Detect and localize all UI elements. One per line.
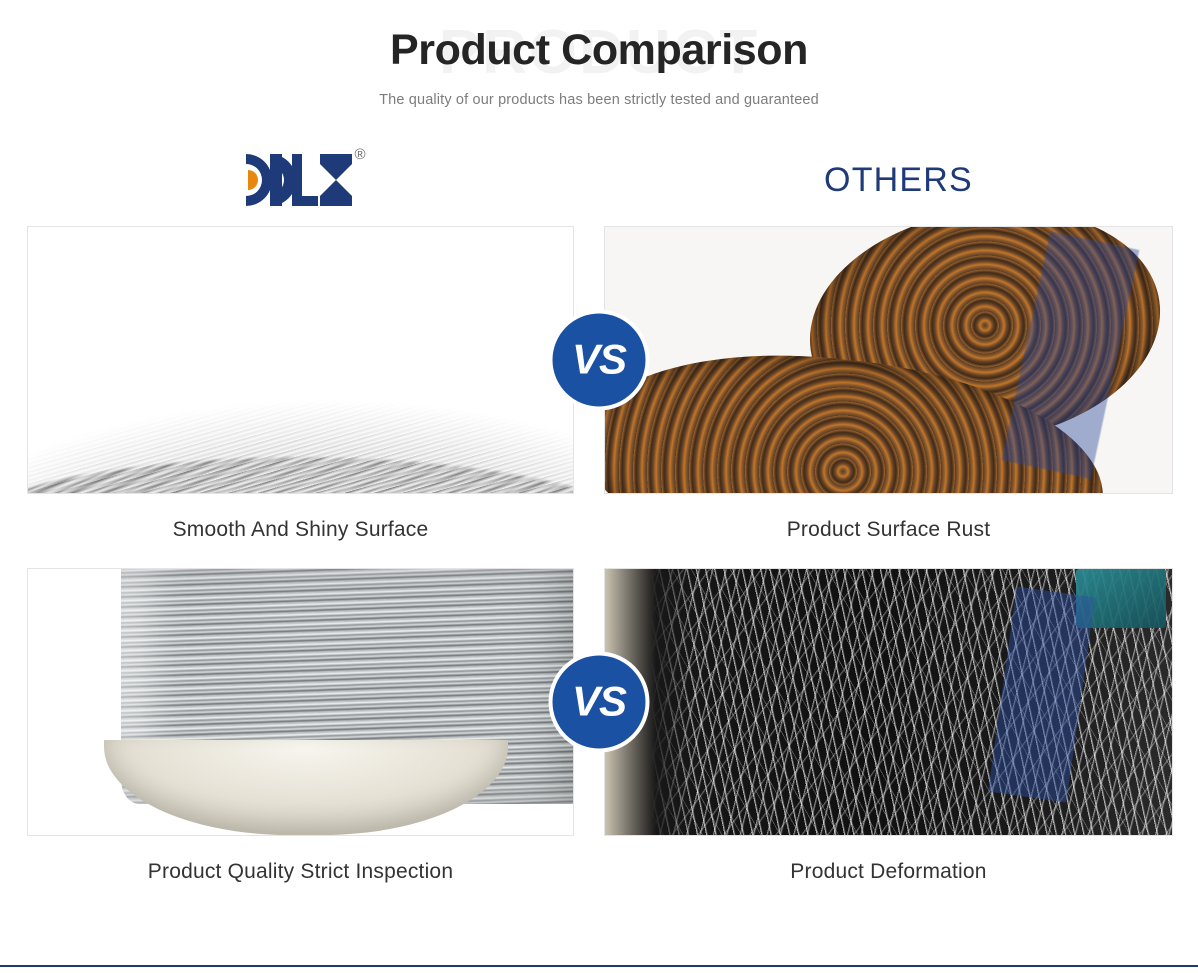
comparison-cell-others: Product Surface Rust <box>599 226 1198 568</box>
photo-caption: Smooth And Shiny Surface <box>173 518 429 542</box>
photo-art <box>605 569 1172 835</box>
photo-art <box>605 227 1172 493</box>
photo-caption: Product Surface Rust <box>787 518 991 542</box>
product-photo-others <box>604 226 1173 494</box>
brand-cell-others: OTHERS <box>599 134 1198 226</box>
comparison-cell-ours: Product Quality Strict Inspection <box>0 568 599 910</box>
photo-caption: Product Deformation <box>790 860 986 884</box>
product-photo-others <box>604 568 1173 836</box>
dlx-logo-icon <box>240 144 358 216</box>
brand-cell-ours: ® <box>0 134 599 226</box>
photo-caption: Product Quality Strict Inspection <box>148 860 453 884</box>
registered-trademark-icon: ® <box>354 146 365 163</box>
photo-art <box>28 227 573 493</box>
silver-wire-spool-image <box>28 569 573 835</box>
silver-wire-coil-image <box>28 227 573 493</box>
bottom-divider <box>0 965 1198 967</box>
page-subtitle: The quality of our products has been str… <box>0 92 1198 108</box>
vs-badge-row2: VS <box>549 652 650 753</box>
page-title: Product Comparison <box>0 26 1198 75</box>
comparison-row: Product Quality Strict Inspection Produc… <box>0 568 1198 910</box>
spool-plastic-flange <box>104 740 507 836</box>
product-comparison-page: PRODUCT Product Comparison The quality o… <box>0 0 1198 973</box>
product-photo-ours <box>27 226 574 494</box>
comparison-cell-others: Product Deformation <box>599 568 1198 910</box>
brand-row: ® OTHERS <box>0 134 1198 226</box>
comparison-cell-ours: Smooth And Shiny Surface <box>0 226 599 568</box>
vs-label: VS <box>572 680 626 722</box>
page-header: PRODUCT Product Comparison The quality o… <box>0 0 1198 108</box>
rusty-wire-image <box>605 227 1172 493</box>
company-logo: ® <box>240 144 360 216</box>
vs-badge-row1: VS <box>549 310 650 411</box>
comparison-grid: Smooth And Shiny Surface Product Surface… <box>0 226 1198 910</box>
product-photo-ours <box>27 568 574 836</box>
comparison-row: Smooth And Shiny Surface Product Surface… <box>0 226 1198 568</box>
photo-art <box>28 569 573 835</box>
others-label: OTHERS <box>824 161 973 200</box>
deformed-wire-image <box>605 569 1172 835</box>
vs-label: VS <box>572 338 626 380</box>
